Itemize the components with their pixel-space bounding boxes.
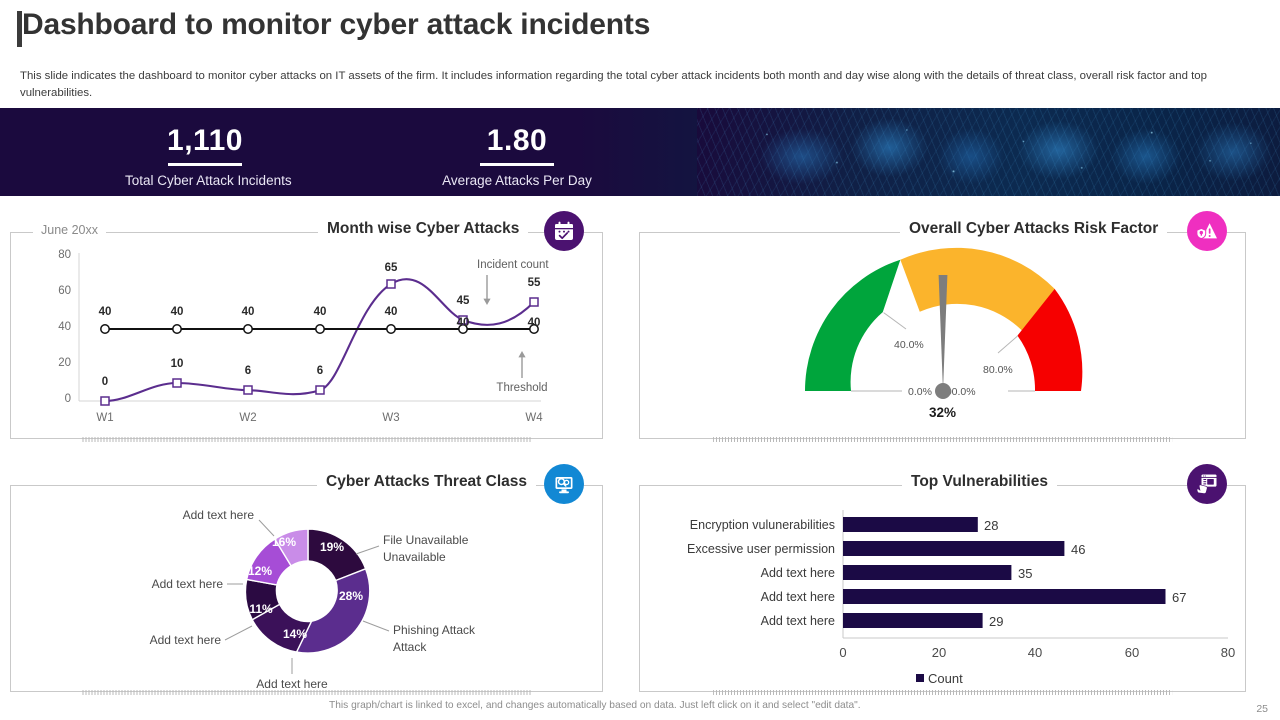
kpi-value: 1.80: [437, 124, 597, 157]
incident-data-label: 10: [171, 358, 184, 370]
bar-category-label: Excessive user permission: [687, 542, 835, 556]
x-tick-label: 80: [1221, 645, 1235, 660]
panel-top-vulnerabilities: Top Vulnerabilities: [639, 485, 1246, 692]
annotation-arrow-up-head: [518, 351, 525, 357]
threshold-data-label: 40: [171, 306, 184, 318]
donut-percent-label: 16%: [272, 535, 296, 549]
donut-category-label: Phishing Attack: [393, 623, 476, 637]
slide-root: Dashboard to monitor cyber attack incide…: [0, 0, 1280, 720]
gauge-tick-40: 40.0%: [894, 339, 924, 351]
page-subtitle: This slide indicates the dashboard to mo…: [20, 68, 1246, 101]
incident-data-label: 65: [385, 262, 398, 274]
bar-row-0: [843, 517, 978, 532]
kpi-total-incidents: 1,110 Total Cyber Attack Incidents: [125, 124, 285, 188]
page-number: 25: [1256, 703, 1268, 715]
y-tick-label: 0: [65, 393, 71, 405]
hacker-artwork-image: [697, 108, 1280, 196]
y-tick-label: 60: [58, 285, 71, 297]
donut-chart-svg: 19% 28% 14% 11% 12% 16% File Unavailable…: [11, 486, 604, 691]
donut-segment-phishing-attack: [297, 569, 370, 653]
line-chart-month-wise: 80 60 40 20 0 W1 W2 W3 W4: [11, 233, 602, 438]
threshold-data-label: 40: [385, 306, 398, 318]
panel-threat-class: Cyber Attacks Threat Class: [10, 485, 603, 692]
donut-percent-label: 12%: [248, 564, 272, 578]
kpi-underline: [480, 163, 554, 166]
donut-percent-label: 28%: [339, 589, 363, 603]
threshold-data-label: 40: [314, 306, 327, 318]
kpi-average-per-day: 1.80 Average Attacks Per Day: [437, 124, 597, 188]
gauge-tick-80: 80.0%: [983, 364, 1013, 376]
bar-row-3: [843, 589, 1166, 604]
incident-count-markers: [101, 280, 538, 405]
legend-swatch-count: [916, 674, 924, 682]
x-tick-label: W1: [96, 412, 113, 424]
donut-percent-label: 19%: [320, 540, 344, 554]
bar-category-label: Add text here: [761, 614, 835, 628]
annotation-incident-count: Incident count: [477, 259, 549, 271]
kpi-label: Total Cyber Attack Incidents: [125, 173, 285, 188]
bar-chart-svg: Encryption vulunerabilities Excessive us…: [640, 486, 1247, 691]
incident-data-label: 55: [528, 277, 541, 289]
footer-note: This graph/chart is linked to excel, and…: [329, 700, 861, 711]
kpi-underline: [168, 163, 242, 166]
incident-data-label: 45: [457, 295, 470, 307]
y-tick-label: 40: [58, 321, 71, 333]
line-chart-svg: 80 60 40 20 0 W1 W2 W3 W4: [11, 233, 604, 438]
donut-percent-label: 14%: [283, 627, 307, 641]
threshold-data-label: 40: [457, 317, 470, 329]
donut-category-label-line2: Unavailable: [383, 550, 446, 564]
panel-risk-factor: Overall Cyber Attacks Risk Factor: [639, 232, 1246, 439]
bar-value-label: 46: [1071, 542, 1085, 557]
threshold-data-label: 40: [242, 306, 255, 318]
gauge-band-green: [805, 260, 900, 391]
page-title: Dashboard to monitor cyber attack incide…: [22, 8, 650, 42]
bar-row-4: [843, 613, 983, 628]
threshold-data-label: 40: [99, 306, 112, 318]
annotation-arrow-down-head: [483, 299, 490, 305]
bar-value-label: 67: [1172, 590, 1186, 605]
donut-category-label: Add text here: [152, 577, 224, 591]
donut-chart-threat-class: 19% 28% 14% 11% 12% 16% File Unavailable…: [11, 486, 602, 691]
incident-count-line: [105, 279, 534, 401]
x-tick-label: 60: [1125, 645, 1139, 660]
bar-row-1: [843, 541, 1064, 556]
slide-header: Dashboard to monitor cyber attack incide…: [0, 0, 1280, 108]
panel-month-wise-attacks: June 20xx Month wise Cyber Attacks: [10, 232, 603, 439]
x-tick-label: W3: [382, 412, 399, 424]
gauge-tick-0: 0.0%: [908, 386, 932, 398]
legend-label-count: Count: [928, 671, 963, 686]
donut-category-label: Add text here: [150, 633, 222, 647]
x-tick-label: 20: [932, 645, 946, 660]
gauge-chart-risk-factor: 0.0% 40.0% 80.0% 100.0% 32%: [640, 233, 1245, 438]
bar-category-label: Encryption vulunerabilities: [690, 518, 835, 532]
x-tick-label: W2: [239, 412, 256, 424]
incident-data-label: 6: [245, 365, 251, 377]
donut-category-label: File Unavailable: [383, 533, 469, 547]
y-tick-label: 20: [58, 357, 71, 369]
bar-value-label: 29: [989, 614, 1003, 629]
bar-category-label: Add text here: [761, 566, 835, 580]
x-tick-label: W4: [525, 412, 543, 424]
annotation-threshold: Threshold: [496, 382, 547, 394]
bar-row-2: [843, 565, 1011, 580]
donut-percent-label: 11%: [249, 602, 273, 616]
donut-category-label: Add text here: [256, 677, 328, 691]
x-tick-label: 0: [839, 645, 846, 660]
donut-category-label-line2: Attack: [393, 640, 427, 654]
incident-data-label: 6: [317, 365, 323, 377]
threshold-data-label: 40: [528, 317, 541, 329]
y-tick-label: 80: [58, 249, 71, 261]
x-tick-label: 40: [1028, 645, 1042, 660]
bar-value-label: 35: [1018, 566, 1032, 581]
kpi-value: 1,110: [125, 124, 285, 157]
incident-data-label: 0: [102, 376, 108, 388]
bar-series-count: [843, 517, 1166, 628]
gauge-value-label: 32%: [640, 405, 1245, 420]
bar-chart-top-vulnerabilities: Encryption vulunerabilities Excessive us…: [640, 486, 1245, 691]
donut-category-label: Add text here: [183, 508, 255, 522]
kpi-banner: 1,110 Total Cyber Attack Incidents 1.80 …: [0, 108, 1280, 196]
bar-value-label: 28: [984, 518, 998, 533]
kpi-label: Average Attacks Per Day: [437, 173, 597, 188]
bar-category-label: Add text here: [761, 590, 835, 604]
